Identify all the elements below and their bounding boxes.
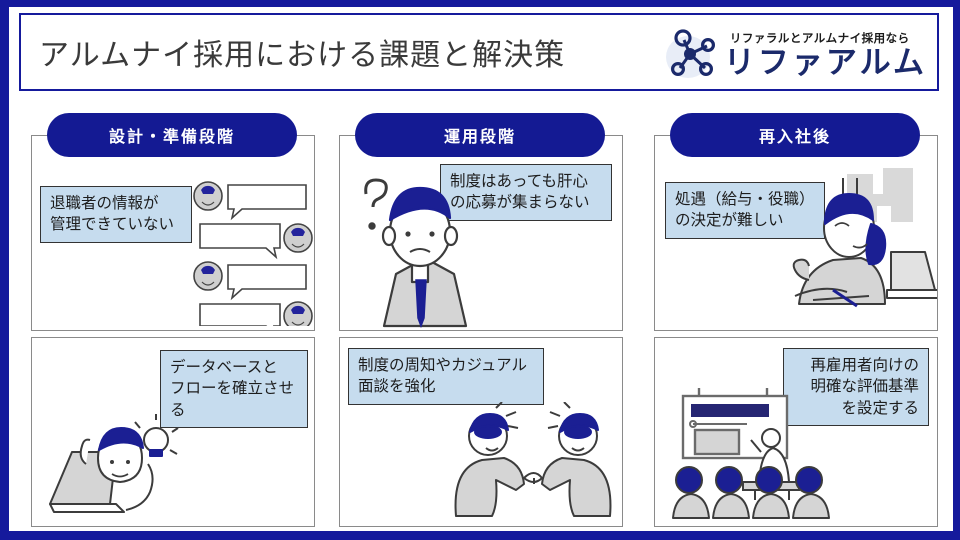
column-operation: 運用段階 制度はあっても肝心の応募が集まらない [339,135,623,527]
problem-cell: 制度はあっても肝心の応募が集まらない [339,135,623,331]
solution-cell: データベースとフローを確立させる [31,337,315,527]
problem-cell: 処遇（給与・役職）の決定が難しい [654,135,938,331]
column-after-rehire: 再入社後 処遇（給与・役職）の決定が難しい [654,135,938,527]
problem-cell: 退職者の情報が管理できていない [31,135,315,331]
slide-canvas: アルムナイ採用における課題と解決策 リファラルとアルムナイ採用なら [0,0,960,540]
confused-man-question-mark-illustration [354,168,474,331]
brand-name: リファアルム [724,47,927,78]
column-header-pill: 設計・準備段階 [47,113,297,157]
column-header-pill: 再入社後 [670,113,920,157]
two-people-discussion-illustration [450,402,616,527]
page-title: アルムナイ採用における課題と解決策 [39,30,565,74]
brand-tagline: リファラルとアルムナイ採用なら [730,30,927,46]
column-design-prep: 設計・準備段階 退職者の情報が管理できていない [31,135,315,527]
person-laptop-idea-illustration [42,392,192,523]
chat-bubbles-avatars-illustration [192,180,315,331]
brand-logo: リファラルとアルムナイ採用なら リファアルム [660,17,927,91]
solution-textbox: 制度の周知やカジュアル面談を強化 [348,348,544,405]
solution-cell: 制度の周知やカジュアル面談を強化 [339,337,623,527]
solution-cell: 再雇用者向けの明確な評価基準を設定する [654,337,938,527]
slide-header: アルムナイ採用における課題と解決策 リファラルとアルムナイ採用なら [19,13,939,91]
woman-thinking-desk-laptop-illustration [787,172,937,331]
presentation-audience-illustration [663,382,839,527]
network-nodes-icon [660,23,722,85]
brand-logo-text: リファラルとアルムナイ採用なら リファアルム [724,30,927,78]
problem-textbox: 退職者の情報が管理できていない [40,186,192,243]
column-header-pill: 運用段階 [355,113,605,157]
